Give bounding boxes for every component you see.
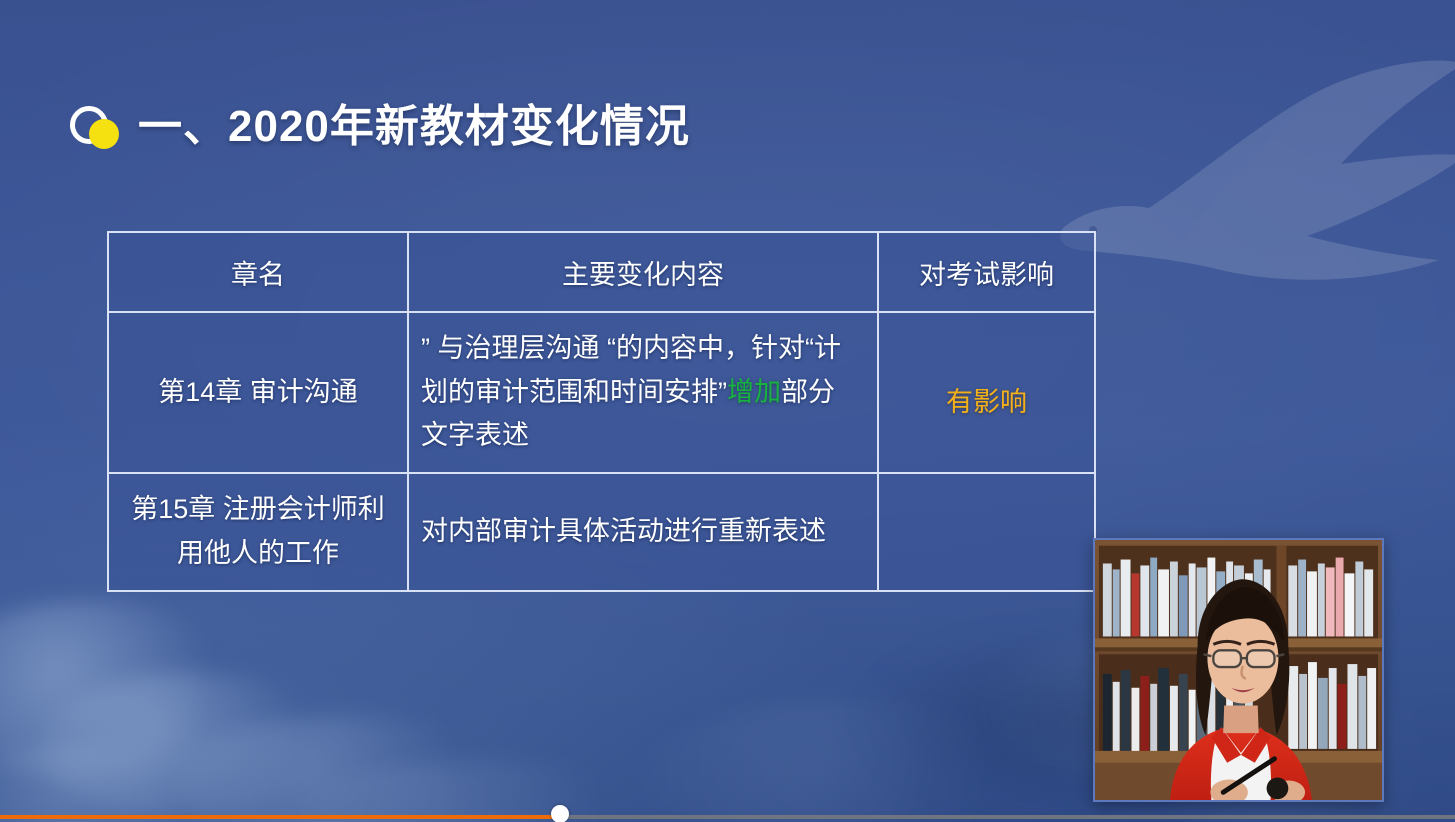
column-header-chapter: 章名 bbox=[108, 232, 408, 312]
content-text: ” 与治理层沟通 “的内容中，针对“计划的审计范围和时间安排”增加部分文字表述 bbox=[409, 313, 877, 472]
cell-impact: 有影响 bbox=[878, 312, 1095, 473]
cell-content: 对内部审计具体活动进行重新表述 bbox=[408, 473, 878, 590]
cell-chapter: 第15章 注册会计师利用他人的工作 bbox=[108, 473, 408, 590]
table-row: 第14章 审计沟通 ” 与治理层沟通 “的内容中，针对“计划的审计范围和时间安排… bbox=[108, 312, 1095, 473]
column-header-impact: 对考试影响 bbox=[878, 232, 1095, 312]
progress-fill bbox=[0, 815, 560, 819]
bullet-dot bbox=[89, 119, 119, 149]
content-prefix: 对内部审计具体活动进行重新表述 bbox=[421, 516, 826, 546]
impact-wrap bbox=[879, 508, 1094, 556]
changes-table: 章名 主要变化内容 对考试影响 第14章 审计沟通 ” 与治理层沟通 “的内容中… bbox=[107, 231, 1096, 592]
content-text: 对内部审计具体活动进行重新表述 bbox=[409, 496, 877, 568]
slide-title-row: 一、2020年新教材变化情况 bbox=[68, 103, 690, 151]
cell-content: ” 与治理层沟通 “的内容中，针对“计划的审计范围和时间安排”增加部分文字表述 bbox=[408, 312, 878, 473]
video-progress-bar[interactable] bbox=[0, 812, 1455, 822]
column-header-content: 主要变化内容 bbox=[408, 232, 878, 312]
progress-handle[interactable] bbox=[551, 805, 569, 822]
page-title: 一、2020年新教材变化情况 bbox=[138, 105, 690, 149]
cell-chapter: 第14章 审计沟通 bbox=[108, 312, 408, 473]
slide-stage: 一、2020年新教材变化情况 章名 主要变化内容 对考试影响 第14章 审计沟通… bbox=[0, 0, 1455, 822]
presenter-video[interactable]: 讲师视频画面 bbox=[1093, 538, 1384, 802]
chapter-text: 第14章 审计沟通 bbox=[109, 357, 407, 429]
dove-icon bbox=[1045, 60, 1455, 360]
cell-impact bbox=[878, 473, 1095, 590]
content-highlight: 增加 bbox=[727, 377, 781, 407]
impact-wrap: 有影响 bbox=[879, 347, 1094, 439]
table-header: 章名 主要变化内容 对考试影响 bbox=[108, 232, 1095, 312]
table-header-row: 章名 主要变化内容 对考试影响 bbox=[108, 232, 1095, 312]
table-row: 第15章 注册会计师利用他人的工作 对内部审计具体活动进行重新表述 bbox=[108, 473, 1095, 590]
chapter-text: 第15章 注册会计师利用他人的工作 bbox=[109, 474, 407, 589]
table-body: 第14章 审计沟通 ” 与治理层沟通 “的内容中，针对“计划的审计范围和时间安排… bbox=[108, 312, 1095, 591]
status-badge: 有影响 bbox=[946, 387, 1027, 417]
ring-dot-bullet-icon bbox=[68, 103, 124, 151]
